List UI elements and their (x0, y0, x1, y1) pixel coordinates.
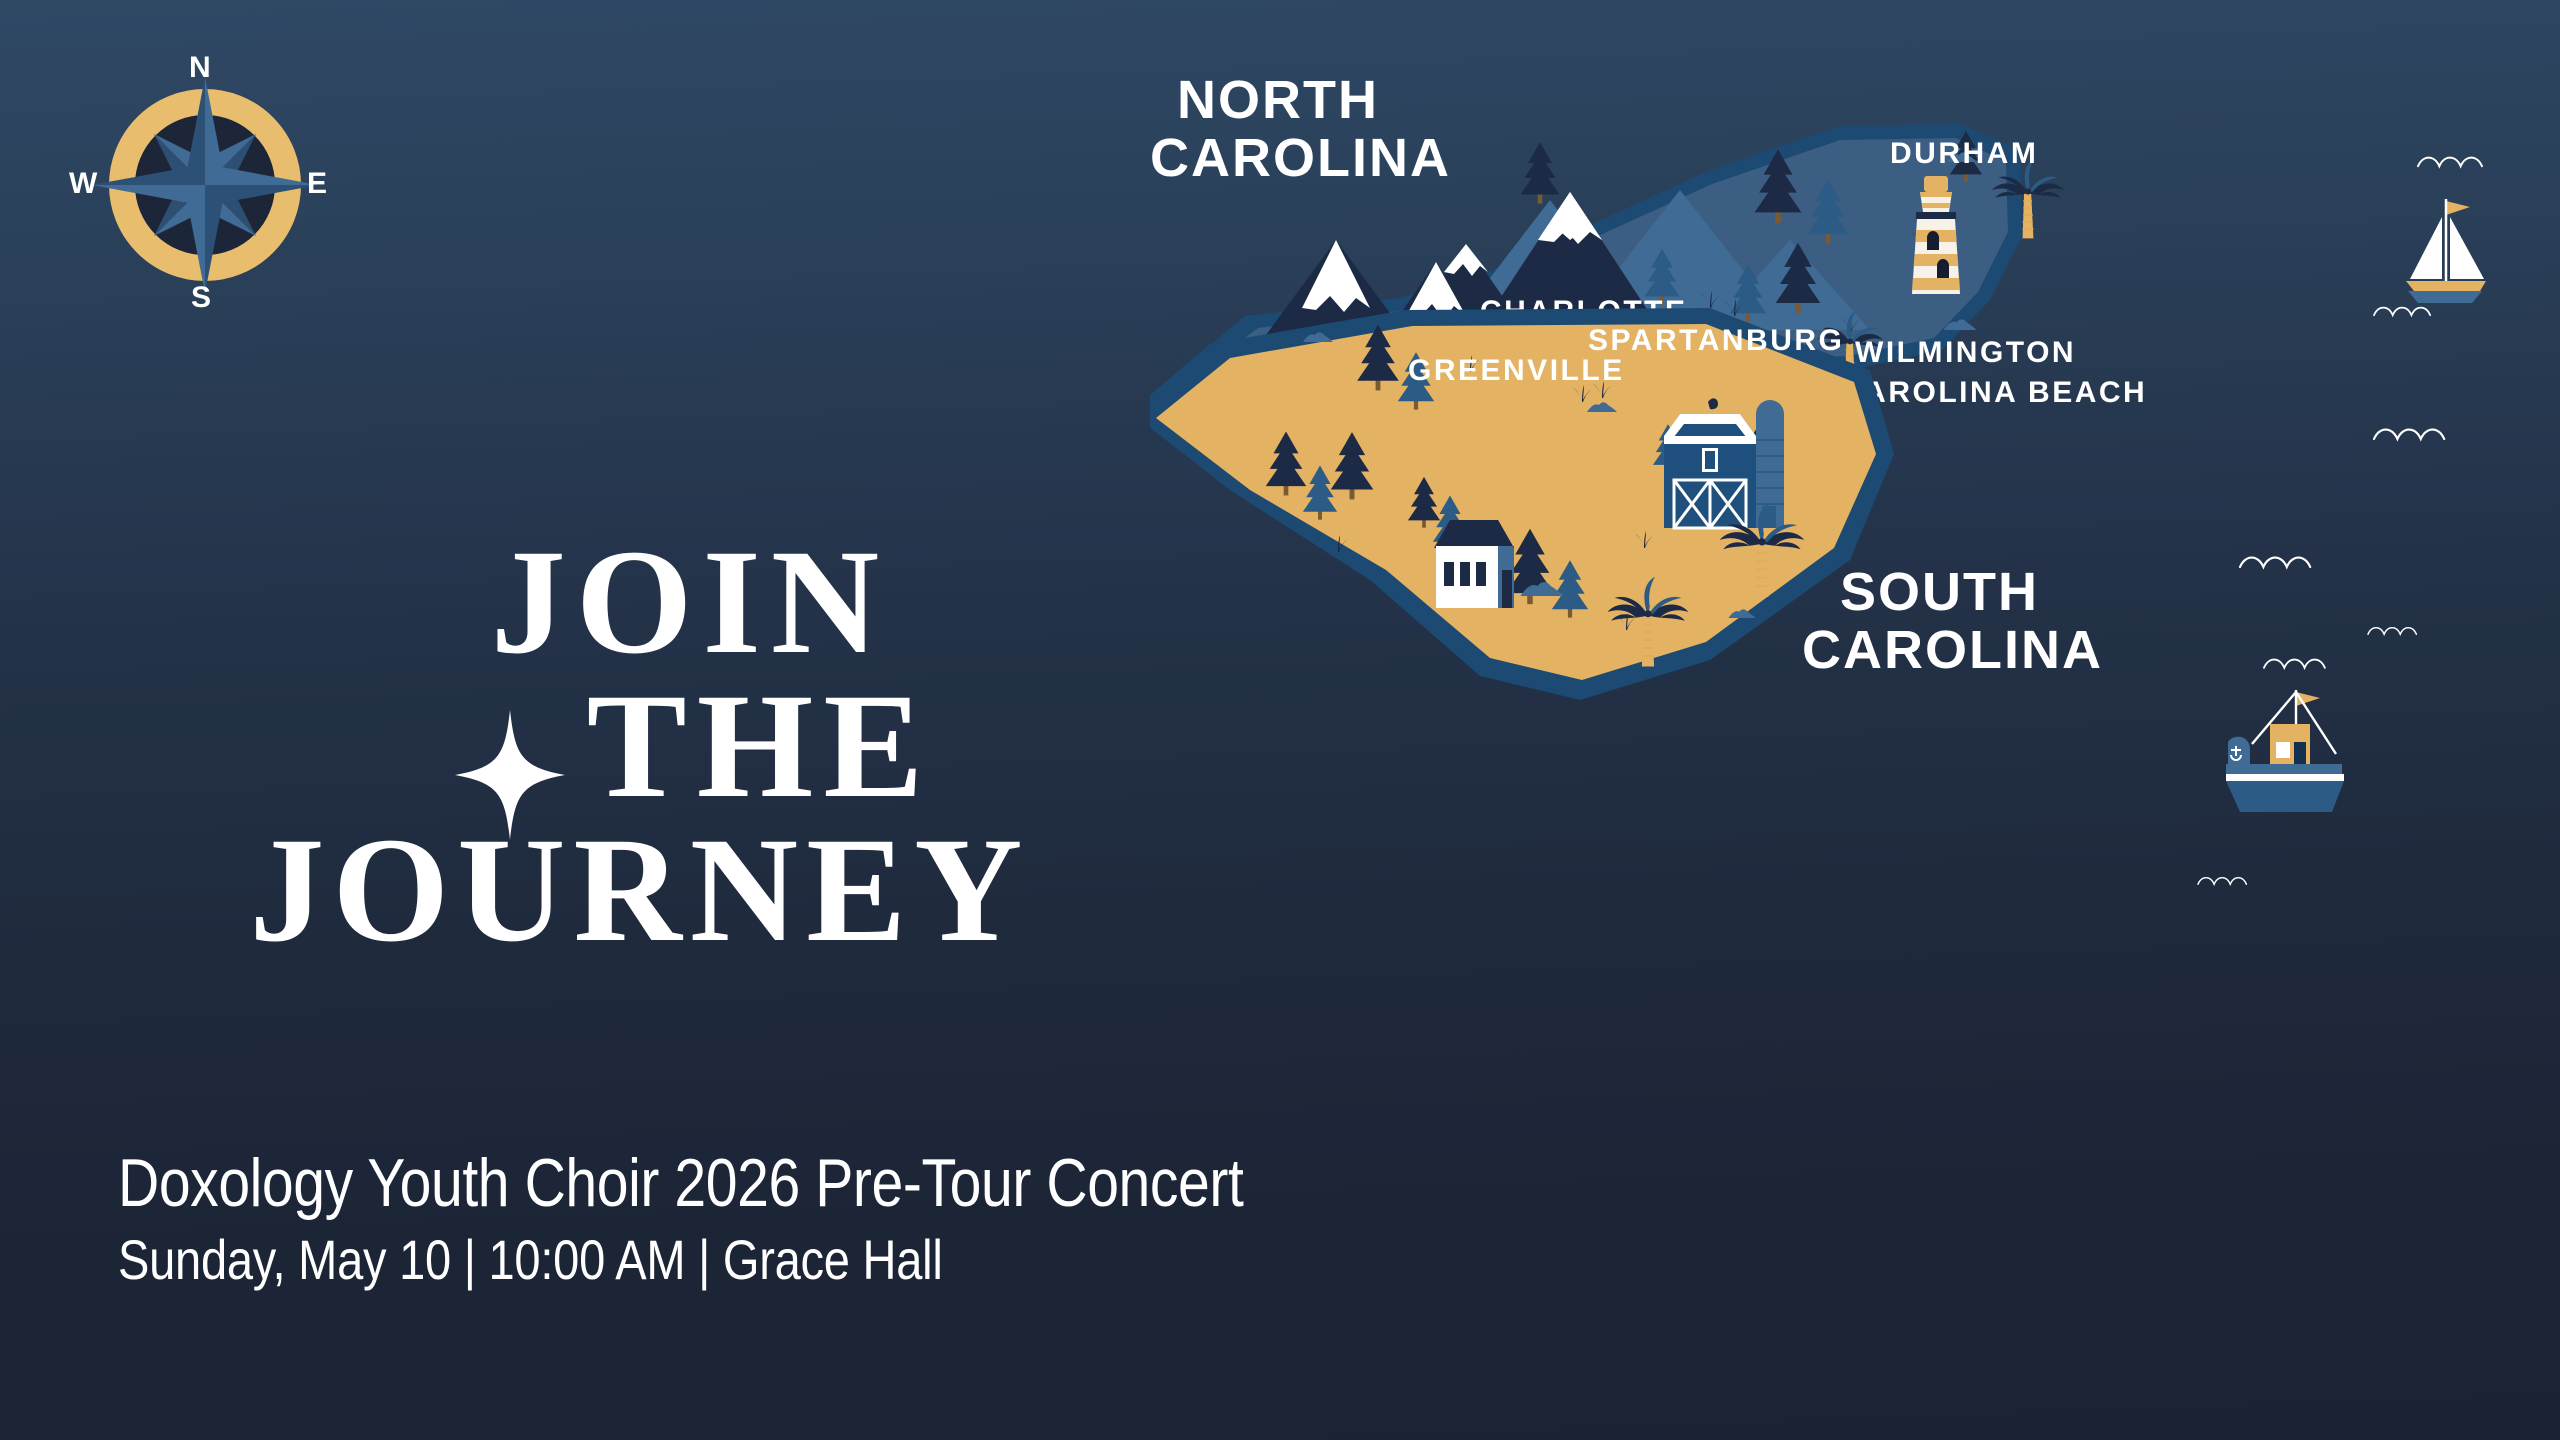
poster-canvas: N S W E JOIN THE JOURNEY Doxology Youth … (0, 0, 2560, 1440)
city-label-durham: DURHAM (1890, 137, 2038, 170)
pine-tree-icon (1521, 142, 1560, 204)
house-icon (1434, 520, 1514, 608)
wave-icon (2368, 628, 2416, 635)
state-label-north-carolina-line2: CAROLINA (1150, 128, 1451, 188)
compass-major-points (92, 77, 318, 293)
headline-block: JOIN THE JOURNEY (0, 530, 1260, 962)
fishing-boat-icon (2226, 690, 2344, 812)
footer-text-block: Doxology Youth Choir 2026 Pre-Tour Conce… (118, 1148, 1618, 1291)
silo-icon (1756, 400, 1784, 528)
compass-label-south: S (191, 283, 212, 313)
wave-icon (2240, 558, 2310, 567)
wave-icon (2374, 308, 2430, 316)
city-label-wilmington: WILMINGTON (1855, 336, 2076, 369)
compass-label-east: E (307, 169, 328, 199)
sailboat-icon (2406, 199, 2486, 303)
city-label-carolina-beach: CAROLINA BEACH (1840, 376, 2147, 409)
wave-icon (2264, 660, 2325, 668)
compass-label-north: N (189, 53, 211, 83)
city-label-spartanburg: SPARTANBURG (1588, 324, 1844, 357)
headline-line-1: JOIN (0, 530, 1260, 674)
headline-line-2: THE (0, 674, 1260, 818)
wave-icon (2418, 158, 2482, 167)
city-label-greenville: GREENVILLE (1408, 354, 1625, 387)
wave-icon (2374, 430, 2444, 439)
compass-label-west: W (69, 169, 98, 199)
state-label-north-carolina-line1: NORTH (1177, 70, 1379, 130)
wave-icon (2198, 878, 2246, 885)
carolinas-map: NORTH CAROLINA DURHAM CHARLOTTE WILMINGT… (1150, 40, 2560, 1160)
state-label-south-carolina-line2: CAROLINA (1802, 620, 2103, 680)
headline-line-3: JOURNEY (0, 818, 1260, 962)
compass-rose: N S W E (60, 45, 350, 325)
state-label-south-carolina-line1: SOUTH (1840, 562, 2039, 622)
ocean-decorations (2198, 158, 2486, 885)
event-details: Sunday, May 10 | 10:00 AM | Grace Hall (118, 1229, 1378, 1291)
